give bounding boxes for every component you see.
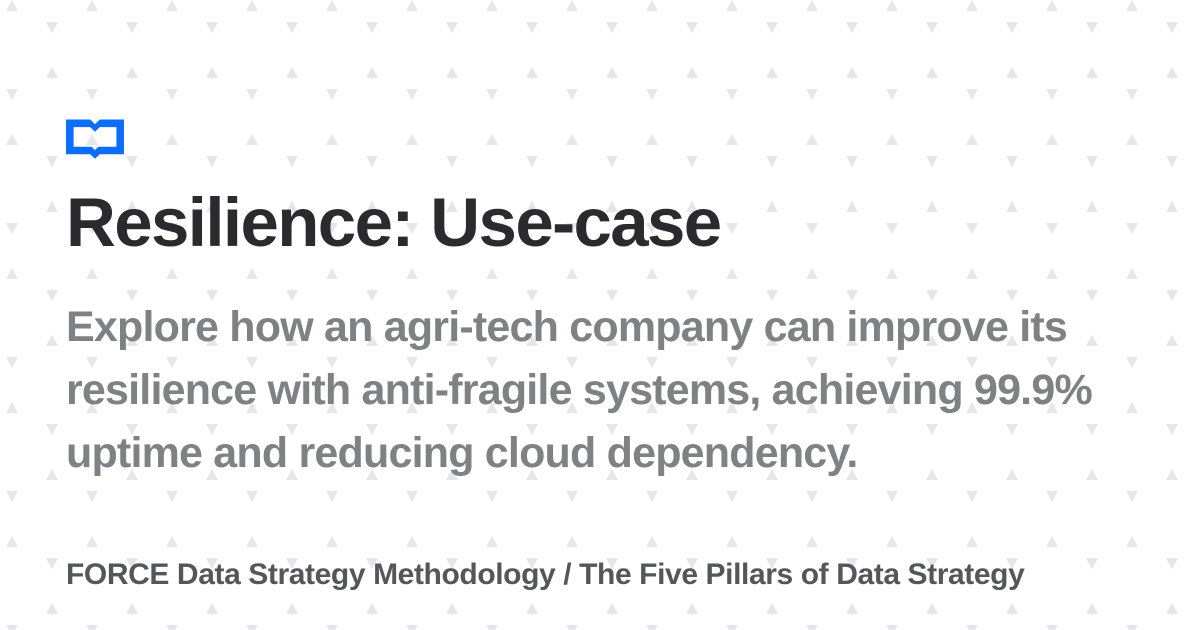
- open-book-icon: [66, 118, 124, 160]
- card-content: Resilience: Use-case Explore how an agri…: [66, 0, 1136, 630]
- breadcrumb: FORCE Data Strategy Methodology / The Fi…: [66, 553, 1126, 597]
- social-share-card: Resilience: Use-case Explore how an agri…: [0, 0, 1200, 630]
- page-subtitle: Explore how an agri-tech company can imp…: [66, 296, 1096, 485]
- page-title: Resilience: Use-case: [66, 186, 721, 261]
